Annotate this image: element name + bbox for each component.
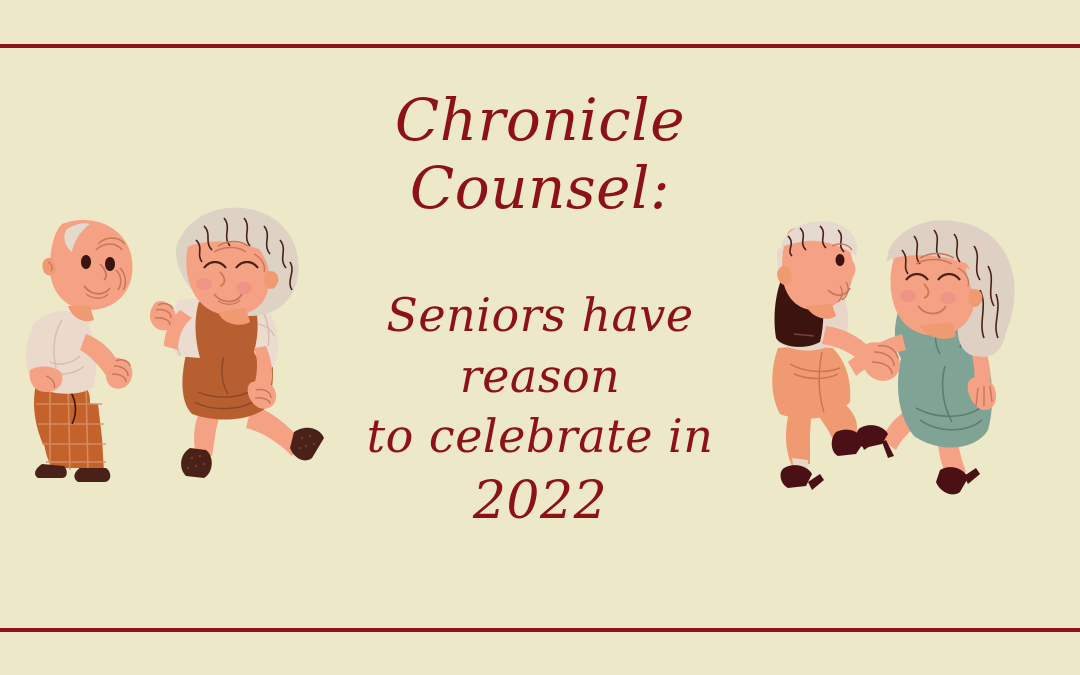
poster-text-block: Chronicle Counsel: Seniors have reason t… (300, 86, 780, 536)
kicker-line-2: Counsel: (300, 154, 780, 222)
bottom-divider-rule (0, 628, 1080, 632)
headline-line-1: Seniors have reason (300, 285, 780, 406)
man-in-vest-dancing-figure (772, 221, 900, 490)
dancing-senior-couple-right-illustration (770, 222, 1060, 512)
top-divider-rule (0, 44, 1080, 48)
headline-line-2: to celebrate in (300, 406, 780, 467)
bald-man-dancing-figure (26, 220, 133, 482)
kicker-line-1: Chronicle (300, 86, 780, 154)
poster-headline: Seniors have reason to celebrate in 2022 (300, 285, 780, 536)
headline-year: 2022 (300, 467, 780, 536)
poster-canvas: Chronicle Counsel: Seniors have reason t… (0, 0, 1080, 675)
poster-kicker: Chronicle Counsel: (300, 86, 780, 223)
dancing-senior-couple-left-illustration (28, 206, 348, 506)
woman-in-rust-dress-dancing-figure (150, 208, 324, 478)
